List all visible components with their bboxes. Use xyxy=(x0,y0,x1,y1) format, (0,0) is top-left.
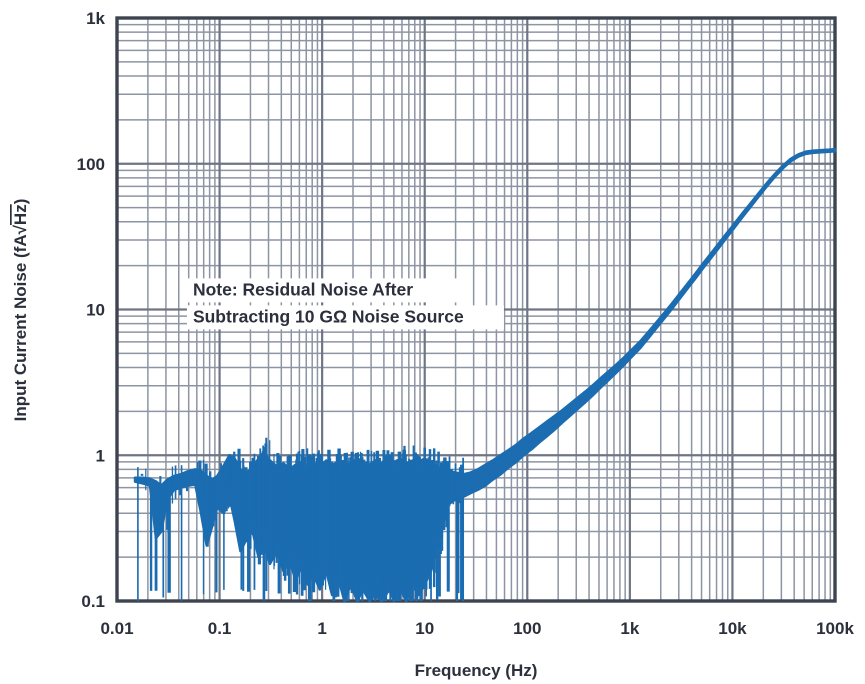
y-tick-label-1: 1 xyxy=(96,446,105,465)
x-tick-label-1: 0.1 xyxy=(208,619,232,638)
x-tick-label-5: 1k xyxy=(620,619,639,638)
note-line-0: Note: Residual Noise After xyxy=(193,279,413,299)
y-axis-title-suffix: ) xyxy=(11,199,30,205)
note-line-1: Subtracting 10 GΩ Noise Source xyxy=(193,306,464,326)
y-axis-title-prefix: Input Current Noise (fA xyxy=(11,234,30,421)
x-tick-label-7: 100k xyxy=(816,619,854,638)
y-axis-title-radicand: Hz xyxy=(11,204,30,225)
x-tick-label-4: 100 xyxy=(513,619,541,638)
x-tick-label-0: 0.01 xyxy=(100,619,133,638)
x-axis-title: Frequency (Hz) xyxy=(415,661,538,680)
noise-spectral-density-chart: 0.010.11101001k10k100k 0.11101001k Note:… xyxy=(0,0,865,684)
svg-text:Input Current Noise (fA√Hz): Input Current Noise (fA√Hz) xyxy=(11,199,30,422)
y-tick-label-2: 10 xyxy=(86,301,105,320)
x-tick-label-3: 10 xyxy=(415,619,434,638)
x-tick-label-2: 1 xyxy=(317,619,326,638)
y-tick-label-0: 0.1 xyxy=(81,592,105,611)
y-tick-label-3: 100 xyxy=(77,155,105,174)
chart-canvas: 0.010.11101001k10k100k 0.11101001k Note:… xyxy=(0,0,865,684)
x-tick-label-6: 10k xyxy=(718,619,747,638)
y-axis-title: Input Current Noise (fA√Hz) xyxy=(11,199,30,422)
y-tick-label-4: 1k xyxy=(86,9,105,28)
